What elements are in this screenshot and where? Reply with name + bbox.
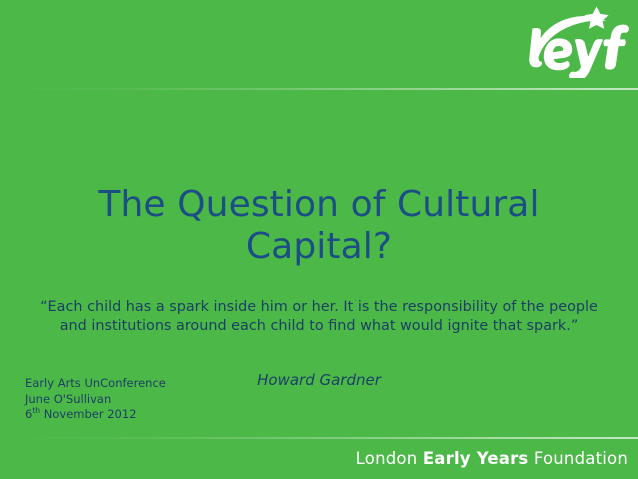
quote-text: “Each child has a spark inside him or he… (34, 298, 604, 336)
presentation-slide: The Question of Cultural Capital? “Each … (0, 0, 638, 479)
slide-title: The Question of Cultural Capital? (0, 184, 638, 268)
footer-emphasis: Early Years (423, 449, 529, 468)
leyf-wordmark (529, 25, 629, 78)
leyf-logo (526, 6, 630, 78)
footer-suffix: Foundation (528, 449, 628, 468)
footer-prefix: London (356, 449, 423, 468)
divider-top (0, 88, 638, 90)
footer-brand: London Early Years Foundation (356, 448, 628, 470)
speaker-name: June O'Sullivan (25, 392, 166, 408)
event-name: Early Arts UnConference (25, 376, 166, 392)
date-ordinal-suffix: th (32, 406, 40, 415)
event-details: Early Arts UnConference June O'Sullivan … (25, 376, 166, 423)
event-date: 6th November 2012 (25, 407, 166, 423)
divider-bottom (0, 437, 638, 439)
star-icon (584, 7, 608, 29)
date-month-year: November 2012 (40, 407, 136, 421)
